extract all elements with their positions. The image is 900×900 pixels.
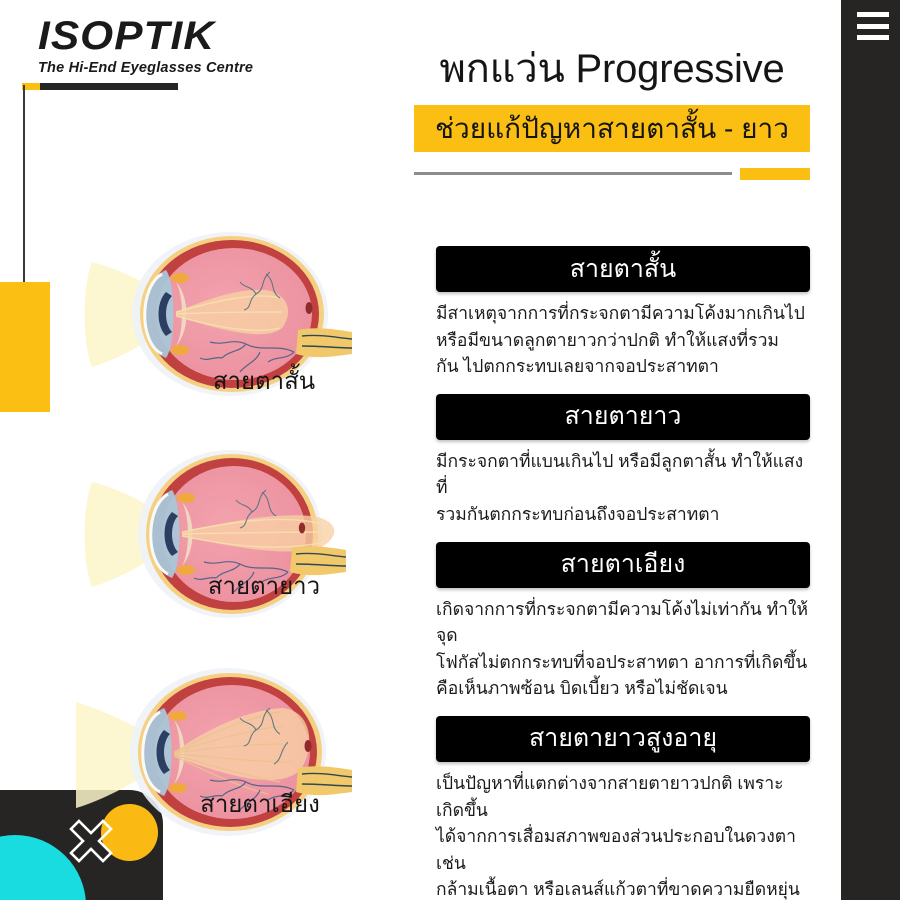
brand-logo[interactable]: ISOPTIK The Hi-End Eyeglasses Centre — [38, 16, 268, 76]
page-subtitle-band: ช่วยแก้ปัญหาสายตาสั้น - ยาว — [414, 105, 810, 152]
accent-yellow-block — [0, 282, 50, 412]
content-block: สายตายาว มีกระจกตาที่แบนเกินไป หรือมีลูก… — [436, 394, 810, 528]
page-title: พกแว่น Progressive — [414, 48, 810, 91]
hamburger-menu-icon[interactable] — [857, 12, 889, 40]
infographic-page: ISOPTIK The Hi-End Eyeglasses Centre พกแ… — [0, 0, 900, 900]
logo-wordmark: ISOPTIK — [38, 16, 282, 56]
eye-cross-section-astigmatism-icon — [76, 652, 396, 852]
block-body-text: เกิดจากการที่กระจกตามีความโค้งไม่เท่ากัน… — [436, 596, 810, 702]
separator-gray-line — [414, 172, 732, 175]
content-blocks: สายตาสั้น มีสาเหตุจากการที่กระจกตามีความ… — [436, 246, 810, 900]
block-heading-text: สายตาเอียง — [561, 552, 686, 577]
hamburger-bar-1 — [857, 12, 889, 17]
accent-rule-dark — [40, 83, 178, 90]
page-subtitle-text: ช่วยแก้ปัญหาสายตาสั้น - ยาว — [435, 115, 789, 143]
accent-vertical-line — [23, 85, 25, 310]
block-heading-text: สายตาสั้น — [570, 257, 677, 282]
diagram-astigmatism — [76, 652, 396, 862]
logo-tagline: The Hi-End Eyeglasses Centre — [38, 61, 268, 76]
diagram-label-hyperopia: สายตายาว — [104, 575, 424, 599]
block-heading-bar: สายตายาวสูงอายุ — [436, 716, 810, 762]
diagram-label-astigmatism: สายตาเอียง — [100, 793, 420, 817]
block-heading-bar: สายตายาว — [436, 394, 810, 440]
content-block: สายตายาวสูงอายุ เป็นปัญหาที่แตกต่างจากสา… — [436, 716, 810, 900]
hamburger-bar-3 — [857, 35, 889, 40]
separator-yellow-block — [740, 168, 810, 180]
accent-rule-yellow — [22, 83, 40, 90]
block-body-text: มีสาเหตุจากการที่กระจกตามีความโค้งมากเกิ… — [436, 300, 810, 380]
eye-cross-section-hyperopia-icon — [80, 432, 400, 632]
block-heading-bar: สายตาเอียง — [436, 542, 810, 588]
diagram-label-myopia: สายตาสั้น — [104, 370, 424, 394]
content-block: สายตาสั้น มีสาเหตุจากการที่กระจกตามีความ… — [436, 246, 810, 380]
hamburger-bar-2 — [857, 24, 889, 29]
block-body-text: มีกระจกตาที่แบนเกินไป หรือมีลูกตาสั้น ทำ… — [436, 448, 810, 528]
title-separator — [414, 168, 810, 180]
diagram-hyperopia — [80, 432, 400, 642]
block-heading-text: สายตายาวสูงอายุ — [529, 726, 717, 751]
block-heading-bar: สายตาสั้น — [436, 246, 810, 292]
block-body-text: เป็นปัญหาที่แตกต่างจากสายตายาวปกติ เพราะ… — [436, 770, 810, 900]
right-sidebar — [841, 0, 900, 900]
content-block: สายตาเอียง เกิดจากการที่กระจกตามีความโค้… — [436, 542, 810, 702]
block-heading-text: สายตายาว — [565, 404, 682, 429]
